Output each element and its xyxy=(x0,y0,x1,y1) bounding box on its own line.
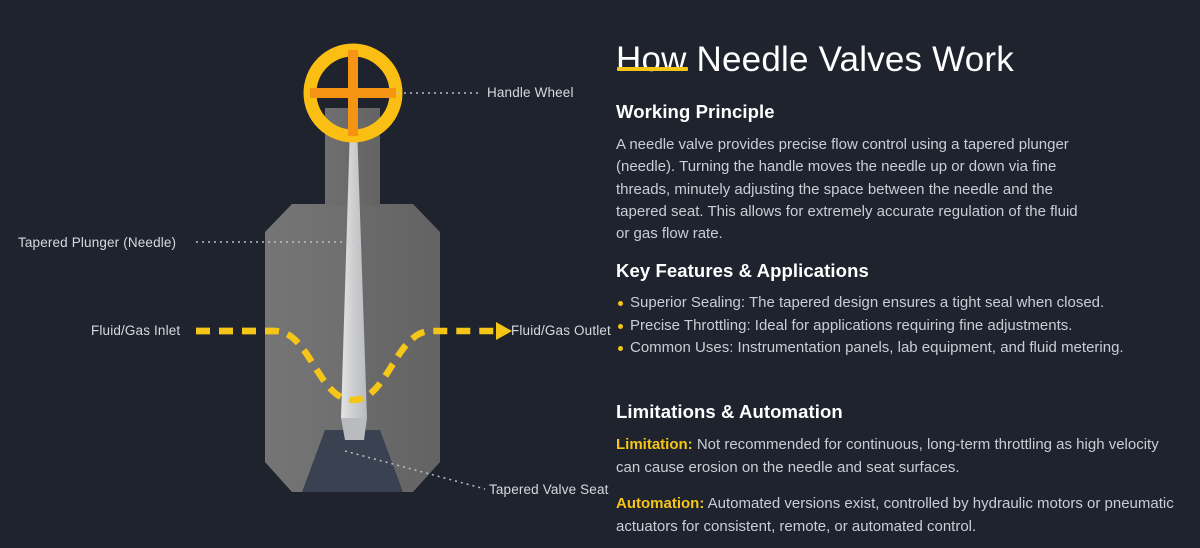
bullet-dot-icon xyxy=(618,324,623,329)
limitation-paragraph: Limitation: Not recommended for continuo… xyxy=(616,434,1176,479)
title-underline-rule xyxy=(617,67,688,71)
diagram-label-inlet: Fluid/Gas Inlet xyxy=(91,324,180,338)
list-item: Precise Throttling: Ideal for applicatio… xyxy=(616,315,1191,338)
automation-key-label: Automation: xyxy=(616,495,704,512)
section-key-features: Key Features & Applications Superior Sea… xyxy=(616,260,1191,360)
section-working-principle: Working Principle A needle valve provide… xyxy=(616,101,1086,246)
key-features-list: Superior Sealing: The tapered design ens… xyxy=(616,292,1191,360)
list-item: Superior Sealing: The tapered design ens… xyxy=(616,292,1191,315)
section-body-working-principle: A needle valve provides precise flow con… xyxy=(616,134,1086,245)
list-item-label: Superior Sealing: The tapered design ens… xyxy=(630,294,1104,311)
content-panel: How Needle Valves Work Working Principle… xyxy=(605,0,1200,548)
valve-handwheel-icon[interactable] xyxy=(310,50,396,136)
diagram-label-tapered-plunger: Tapered Plunger (Needle) xyxy=(18,236,176,250)
needle-tip xyxy=(341,418,367,440)
flow-arrow-icon xyxy=(496,322,512,340)
list-item-label: Common Uses: Instrumentation panels, lab… xyxy=(630,339,1124,356)
bullet-dot-icon xyxy=(618,301,623,306)
infographic-root: Handle Wheel Tapered Plunger (Needle) Fl… xyxy=(0,0,1200,548)
limitation-body-text: Not recommended for continuous, long-ter… xyxy=(616,436,1159,476)
section-limitations-automation: Limitations & Automation Limitation: Not… xyxy=(616,401,1176,538)
diagram-label-handle-wheel: Handle Wheel xyxy=(487,86,574,100)
diagram-label-outlet: Fluid/Gas Outlet xyxy=(511,324,611,338)
diagram-label-valve-seat: Tapered Valve Seat xyxy=(489,483,609,497)
list-item: Common Uses: Instrumentation panels, lab… xyxy=(616,337,1191,360)
page-title: How Needle Valves Work xyxy=(616,40,1014,80)
section-heading-key-features: Key Features & Applications xyxy=(616,260,1191,282)
list-item-label: Precise Throttling: Ideal for applicatio… xyxy=(630,317,1072,334)
section-heading-limitations: Limitations & Automation xyxy=(616,401,1176,423)
valve-diagram-panel: Handle Wheel Tapered Plunger (Needle) Fl… xyxy=(0,0,605,548)
section-heading-working-principle: Working Principle xyxy=(616,101,1086,123)
valve-cutaway-illustration xyxy=(0,0,605,548)
bullet-dot-icon xyxy=(618,346,623,351)
automation-paragraph: Automation: Automated versions exist, co… xyxy=(616,493,1176,538)
limitation-key-label: Limitation: xyxy=(616,436,693,453)
